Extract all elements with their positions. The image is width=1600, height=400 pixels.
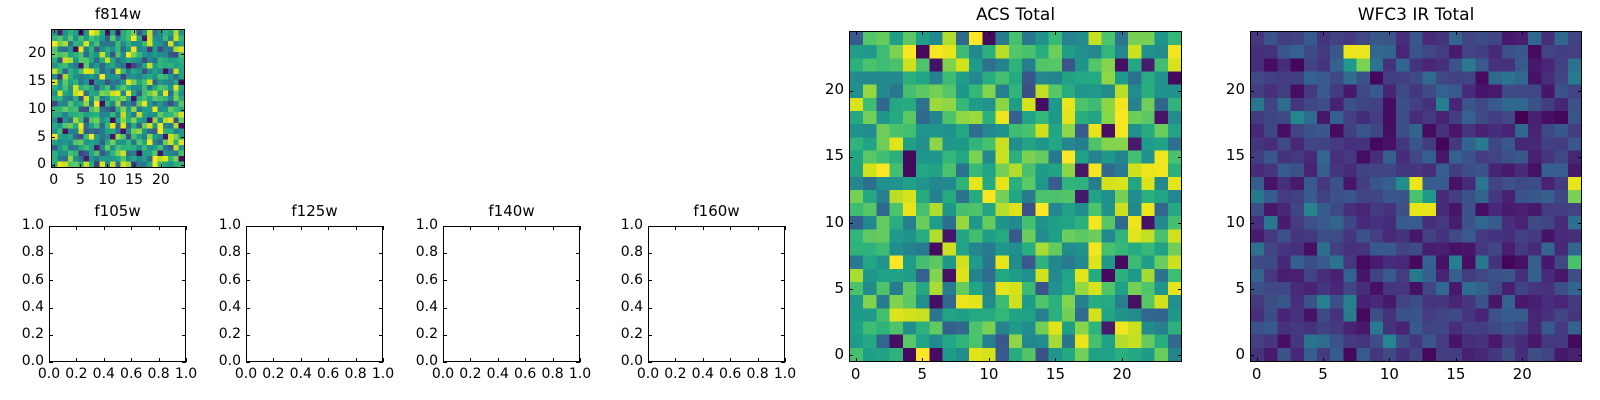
ytick-mark <box>1578 91 1582 92</box>
ytick-label: 20 <box>754 82 844 97</box>
ytick-mark <box>849 223 853 224</box>
axes-acs-total <box>849 31 1182 362</box>
ytick-label: 0.0 <box>0 354 44 368</box>
ytick-label: 0.0 <box>553 354 643 368</box>
ytick-mark <box>246 280 250 281</box>
ytick-mark <box>246 253 250 254</box>
ytick-label: 0.8 <box>0 245 44 259</box>
xtick-label: 1.0 <box>745 367 825 381</box>
ytick-mark <box>1250 223 1254 224</box>
xtick-mark <box>328 358 329 362</box>
ytick-mark <box>181 137 185 138</box>
xtick-mark <box>470 226 471 230</box>
xtick-mark <box>161 164 162 168</box>
ytick-mark <box>648 280 652 281</box>
ytick-label: 0.0 <box>151 354 241 368</box>
ytick-mark <box>181 110 185 111</box>
ytick-mark <box>181 82 185 83</box>
ytick-label: 0.4 <box>0 300 44 314</box>
xtick-mark <box>1257 358 1258 362</box>
ytick-mark <box>781 362 785 363</box>
ytick-mark <box>443 308 447 309</box>
ytick-mark <box>443 226 447 227</box>
heatmap-wfc3-ir-total <box>1251 32 1581 361</box>
ytick-label: 5 <box>754 281 844 296</box>
ytick-mark <box>49 308 53 309</box>
ytick-mark <box>1578 157 1582 158</box>
ytick-mark <box>246 226 250 227</box>
xtick-mark <box>273 226 274 230</box>
matplotlib-figure: f814w0510152005101520f105w0.00.20.40.60.… <box>0 0 1600 400</box>
ytick-label: 15 <box>1155 148 1245 163</box>
xtick-mark <box>989 31 990 35</box>
ytick-label: 1.0 <box>151 218 241 232</box>
xtick-mark <box>134 164 135 168</box>
ytick-label: 0.6 <box>0 273 44 287</box>
xtick-mark <box>1257 31 1258 35</box>
ytick-label: 10 <box>1155 215 1245 230</box>
ytick-mark <box>246 308 250 309</box>
xtick-mark <box>131 226 132 230</box>
ytick-label: 5 <box>1155 281 1245 296</box>
ytick-mark <box>849 157 853 158</box>
ytick-label: 0.4 <box>553 300 643 314</box>
ytick-label: 0.4 <box>151 300 241 314</box>
ytick-label: 15 <box>754 148 844 163</box>
ytick-mark <box>849 289 853 290</box>
xtick-mark <box>273 358 274 362</box>
ytick-label: 0.2 <box>0 327 44 341</box>
xtick-mark <box>856 358 857 362</box>
xtick-mark <box>1522 358 1523 362</box>
ytick-mark <box>51 110 55 111</box>
xtick-mark <box>730 226 731 230</box>
ytick-mark <box>443 362 447 363</box>
xtick-mark <box>76 358 77 362</box>
xtick-mark <box>498 226 499 230</box>
xtick-mark <box>131 358 132 362</box>
xtick-mark <box>1456 358 1457 362</box>
ytick-mark <box>49 280 53 281</box>
ytick-label: 15 <box>0 74 46 88</box>
ytick-label: 0.6 <box>151 273 241 287</box>
ytick-label: 10 <box>754 215 844 230</box>
ytick-label: 0.2 <box>348 327 438 341</box>
xtick-label: 20 <box>1482 367 1562 382</box>
xtick-mark <box>54 29 55 33</box>
ytick-label: 20 <box>1155 82 1245 97</box>
xtick-mark <box>328 226 329 230</box>
ytick-label: 0.6 <box>553 273 643 287</box>
xtick-mark <box>498 358 499 362</box>
subplot-title-f105w: f105w <box>49 204 186 219</box>
xtick-mark <box>107 164 108 168</box>
xtick-mark <box>107 29 108 33</box>
ytick-label: 0.6 <box>348 273 438 287</box>
axes-wfc3-ir-total <box>1250 31 1582 362</box>
ytick-mark <box>1578 223 1582 224</box>
ytick-mark <box>51 165 55 166</box>
ytick-mark <box>49 253 53 254</box>
subplot-title-acs-total: ACS Total <box>849 7 1182 24</box>
ytick-label: 0.2 <box>553 327 643 341</box>
ytick-mark <box>648 362 652 363</box>
ytick-label: 0 <box>1155 347 1245 362</box>
ytick-mark <box>648 335 652 336</box>
xtick-mark <box>675 358 676 362</box>
subplot-title-f814w: f814w <box>51 7 185 22</box>
xtick-mark <box>80 29 81 33</box>
xtick-mark <box>922 358 923 362</box>
xtick-mark <box>922 31 923 35</box>
xtick-mark <box>76 226 77 230</box>
ytick-mark <box>49 335 53 336</box>
xtick-mark <box>675 226 676 230</box>
xtick-mark <box>525 358 526 362</box>
ytick-mark <box>51 137 55 138</box>
xtick-mark <box>1456 31 1457 35</box>
ytick-mark <box>246 362 250 363</box>
ytick-mark <box>781 308 785 309</box>
ytick-mark <box>1578 289 1582 290</box>
ytick-mark <box>443 280 447 281</box>
ytick-mark <box>648 226 652 227</box>
xtick-mark <box>134 29 135 33</box>
xtick-mark <box>1122 358 1123 362</box>
ytick-mark <box>1250 355 1254 356</box>
xtick-mark <box>301 226 302 230</box>
ytick-mark <box>1578 355 1582 356</box>
xtick-mark <box>1055 31 1056 35</box>
ytick-mark <box>443 335 447 336</box>
ytick-mark <box>781 253 785 254</box>
ytick-label: 1.0 <box>553 218 643 232</box>
ytick-label: 0 <box>754 347 844 362</box>
ytick-label: 0 <box>0 157 46 171</box>
ytick-mark <box>49 226 53 227</box>
ytick-label: 0.2 <box>151 327 241 341</box>
subplot-title-f140w: f140w <box>443 204 580 219</box>
xtick-mark <box>989 358 990 362</box>
ytick-mark <box>443 253 447 254</box>
ytick-mark <box>849 91 853 92</box>
xtick-mark <box>1389 358 1390 362</box>
ytick-label: 0.8 <box>348 245 438 259</box>
ytick-mark <box>781 335 785 336</box>
ytick-label: 10 <box>0 102 46 116</box>
xtick-mark <box>730 358 731 362</box>
heatmap-f814w <box>52 30 184 167</box>
ytick-mark <box>1250 289 1254 290</box>
ytick-label: 1.0 <box>0 218 44 232</box>
xtick-mark <box>104 358 105 362</box>
ytick-label: 5 <box>0 130 46 144</box>
xtick-mark <box>1522 31 1523 35</box>
subplot-title-f125w: f125w <box>246 204 383 219</box>
xtick-label: 20 <box>1082 367 1162 382</box>
ytick-label: 0.4 <box>348 300 438 314</box>
ytick-mark <box>51 82 55 83</box>
ytick-mark <box>648 308 652 309</box>
xtick-mark <box>856 31 857 35</box>
ytick-mark <box>1250 157 1254 158</box>
axes-f814w <box>51 29 185 168</box>
ytick-mark <box>648 253 652 254</box>
xtick-mark <box>104 226 105 230</box>
xtick-mark <box>301 358 302 362</box>
ytick-mark <box>49 362 53 363</box>
xtick-mark <box>1323 31 1324 35</box>
ytick-label: 20 <box>0 46 46 60</box>
xtick-mark <box>80 164 81 168</box>
ytick-label: 0.8 <box>553 245 643 259</box>
ytick-mark <box>246 335 250 336</box>
ytick-label: 1.0 <box>348 218 438 232</box>
xtick-mark <box>470 358 471 362</box>
ytick-label: 0.0 <box>348 354 438 368</box>
ytick-mark <box>1250 91 1254 92</box>
xtick-mark <box>1122 31 1123 35</box>
xtick-mark <box>703 226 704 230</box>
ytick-mark <box>51 54 55 55</box>
ytick-mark <box>181 54 185 55</box>
ytick-mark <box>849 355 853 356</box>
ytick-label: 0.8 <box>151 245 241 259</box>
xtick-mark <box>1323 358 1324 362</box>
ytick-mark <box>181 165 185 166</box>
xtick-mark <box>1389 31 1390 35</box>
xtick-mark <box>703 358 704 362</box>
subplot-title-wfc3-ir-total: WFC3 IR Total <box>1250 7 1582 24</box>
xtick-label: 20 <box>121 173 201 187</box>
xtick-mark <box>161 29 162 33</box>
heatmap-acs-total <box>850 32 1181 361</box>
xtick-mark <box>1055 358 1056 362</box>
xtick-mark <box>525 226 526 230</box>
